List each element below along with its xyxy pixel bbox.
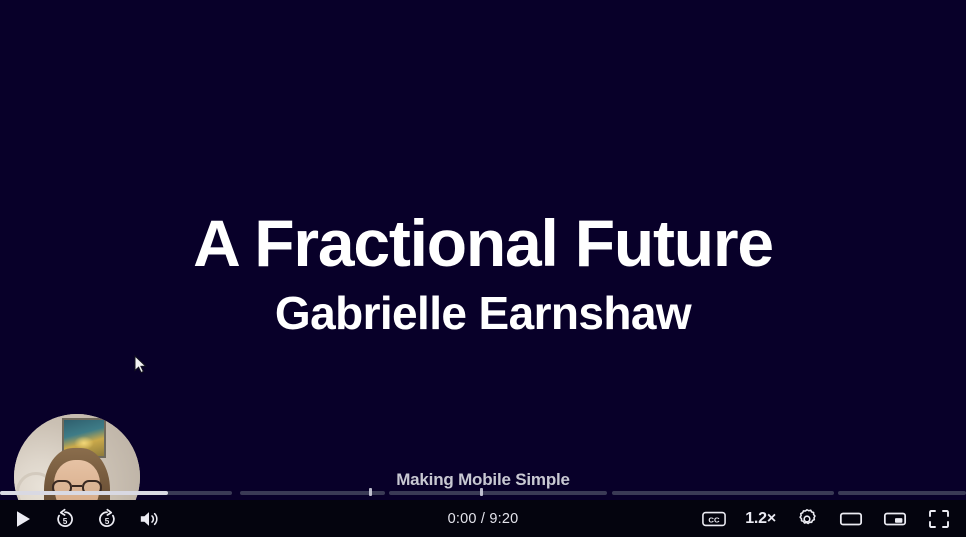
chapter-marker-a[interactable] [369,488,372,496]
theater-mode-icon[interactable] [838,506,864,532]
play-button[interactable] [10,506,36,532]
slide-stage[interactable]: A Fractional Future Gabrielle Earnshaw M… [0,0,966,537]
svg-text:5: 5 [105,516,110,525]
chapter-segment-2[interactable] [240,491,385,495]
video-player[interactable]: A Fractional Future Gabrielle Earnshaw M… [0,0,966,537]
chapter-segment-5[interactable] [838,491,966,495]
progress-bar[interactable] [0,490,966,496]
controls-right-group: CC 1.2× [701,506,966,532]
volume-icon[interactable] [136,506,162,532]
picture-in-picture-icon[interactable] [882,506,908,532]
captions-cc-icon[interactable]: CC [701,506,727,532]
controls-left-group: 5 5 [0,506,162,532]
settings-gear-icon[interactable] [794,506,820,532]
svg-text:5: 5 [63,516,68,525]
playback-speed-button[interactable]: 1.2× [745,511,776,527]
glasses-bridge [72,485,82,487]
rewind-5-icon[interactable]: 5 [52,506,78,532]
chapter-segment-3[interactable] [389,491,607,495]
chapter-segment-4[interactable] [612,491,834,495]
slide-title: A Fractional Future [0,208,966,279]
svg-text:CC: CC [709,515,721,524]
slide-subtitle: Gabrielle Earnshaw [0,288,966,339]
fullscreen-icon[interactable] [926,506,952,532]
forward-5-icon[interactable]: 5 [94,506,120,532]
player-control-bar[interactable]: 5 5 [0,500,966,537]
slide-footer-text: Making Mobile Simple [0,470,966,490]
chapter-marker-b[interactable] [480,488,483,496]
progress-played [0,491,168,495]
